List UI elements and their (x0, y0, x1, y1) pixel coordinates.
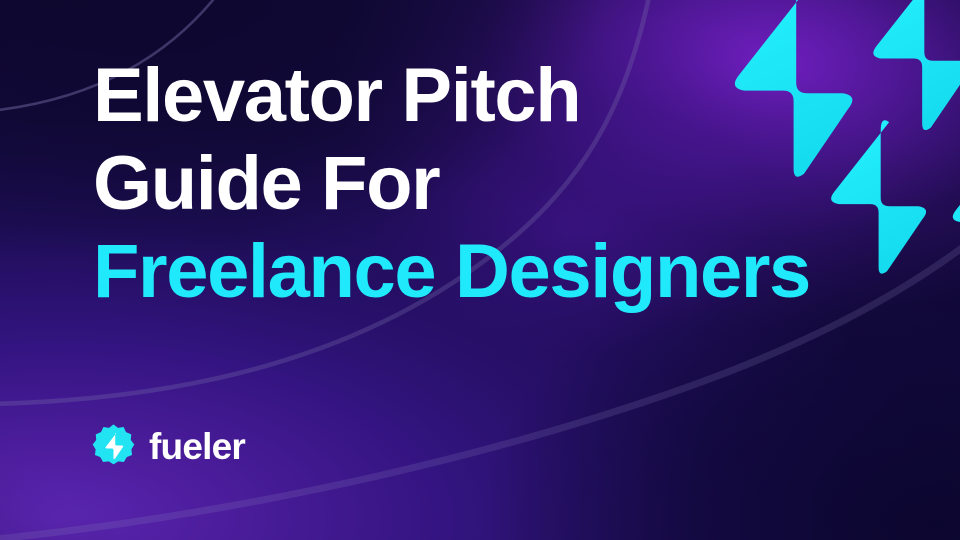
headline-block: Elevator Pitch Guide For Freelance Desig… (93, 52, 893, 316)
headline-line-1: Elevator Pitch (93, 52, 893, 140)
cover-card: Elevator Pitch Guide For Freelance Desig… (0, 0, 960, 540)
brand-logo[interactable]: fueler (92, 424, 245, 467)
headline-line-3: Freelance Designers (93, 228, 893, 316)
lightning-bolt-badge-icon (92, 424, 135, 467)
brand-wordmark: fueler (149, 428, 245, 465)
headline-line-2: Guide For (93, 140, 893, 228)
